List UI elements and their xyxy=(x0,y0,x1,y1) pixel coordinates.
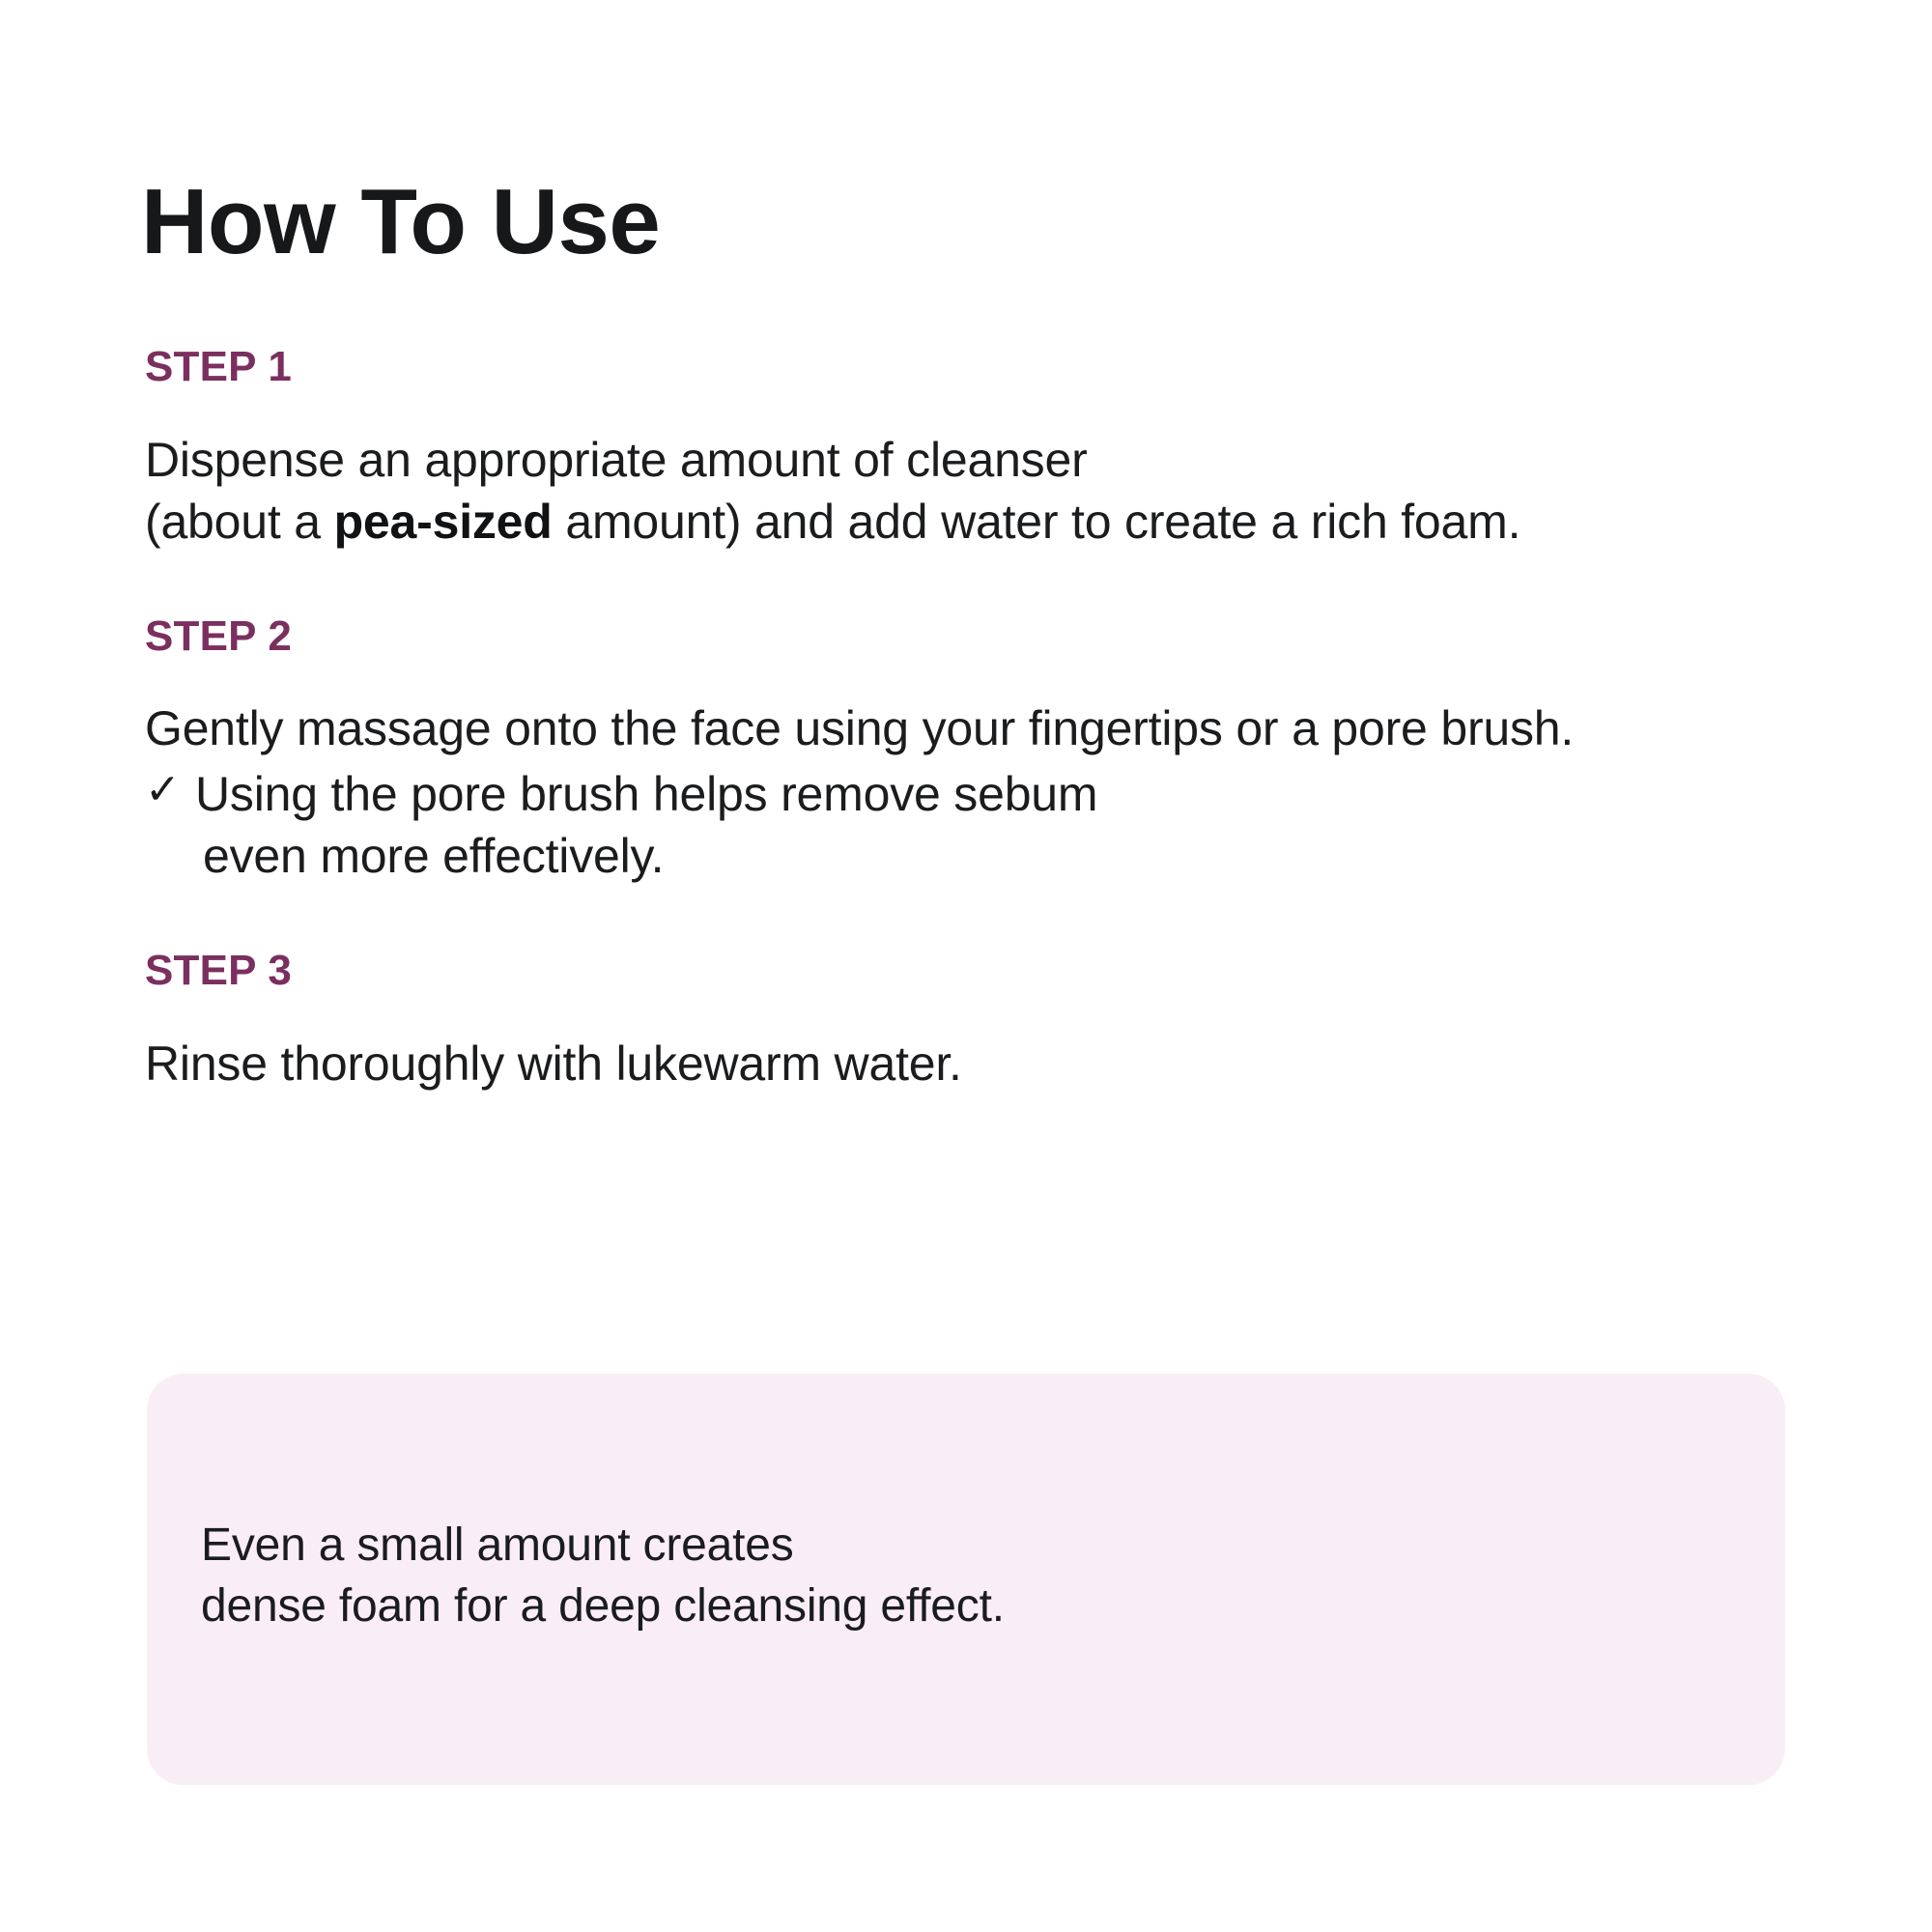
steps-list: STEP 1 Dispense an appropriate amount of… xyxy=(145,343,1806,1094)
step-3-line-1: Rinse thoroughly with lukewarm water. xyxy=(145,1037,962,1091)
step-1-line-2-prefix: (about a xyxy=(145,495,334,549)
step-item-1: STEP 1 Dispense an appropriate amount of… xyxy=(145,343,1806,553)
step-2-note-text: Using the pore brush helps remove sebum … xyxy=(195,763,1806,887)
tip-callout-line-2: dense foam for a deep cleansing effect. xyxy=(201,1580,1005,1632)
step-body-3: Rinse thoroughly with lukewarm water. xyxy=(145,1033,1806,1094)
step-2-line-1: Gently massage onto the face using your … xyxy=(145,701,1574,755)
step-body-2: Gently massage onto the face using your … xyxy=(145,697,1806,759)
tip-callout-line-1: Even a small amount creates xyxy=(201,1520,794,1571)
tip-callout-box: Even a small amount creates dense foam f… xyxy=(147,1374,1785,1785)
step-body-1: Dispense an appropriate amount of cleans… xyxy=(145,429,1806,553)
step-label-1: STEP 1 xyxy=(145,343,1806,392)
step-2-note-line-1: Using the pore brush helps remove sebum xyxy=(195,767,1097,821)
step-1-line-2-suffix: amount) and add water to create a rich f… xyxy=(553,495,1521,549)
step-1-line-2-emphasis: pea-sized xyxy=(334,495,553,549)
step-item-2: STEP 2 Gently massage onto the face usin… xyxy=(145,612,1806,888)
step-2-note-line-2: even more effectively. xyxy=(195,825,1806,887)
tip-callout-text: Even a small amount creates dense foam f… xyxy=(201,1515,1005,1637)
how-to-use-panel: How To Use STEP 1 Dispense an appropriat… xyxy=(0,0,1932,1932)
check-icon: ✓ xyxy=(145,763,189,817)
step-1-line-1: Dispense an appropriate amount of cleans… xyxy=(145,433,1088,487)
step-2-note: ✓ Using the pore brush helps remove sebu… xyxy=(145,763,1806,887)
step-label-3: STEP 3 xyxy=(145,947,1806,996)
page-title: How To Use xyxy=(141,176,660,269)
step-item-3: STEP 3 Rinse thoroughly with lukewarm wa… xyxy=(145,947,1806,1094)
step-label-2: STEP 2 xyxy=(145,612,1806,662)
